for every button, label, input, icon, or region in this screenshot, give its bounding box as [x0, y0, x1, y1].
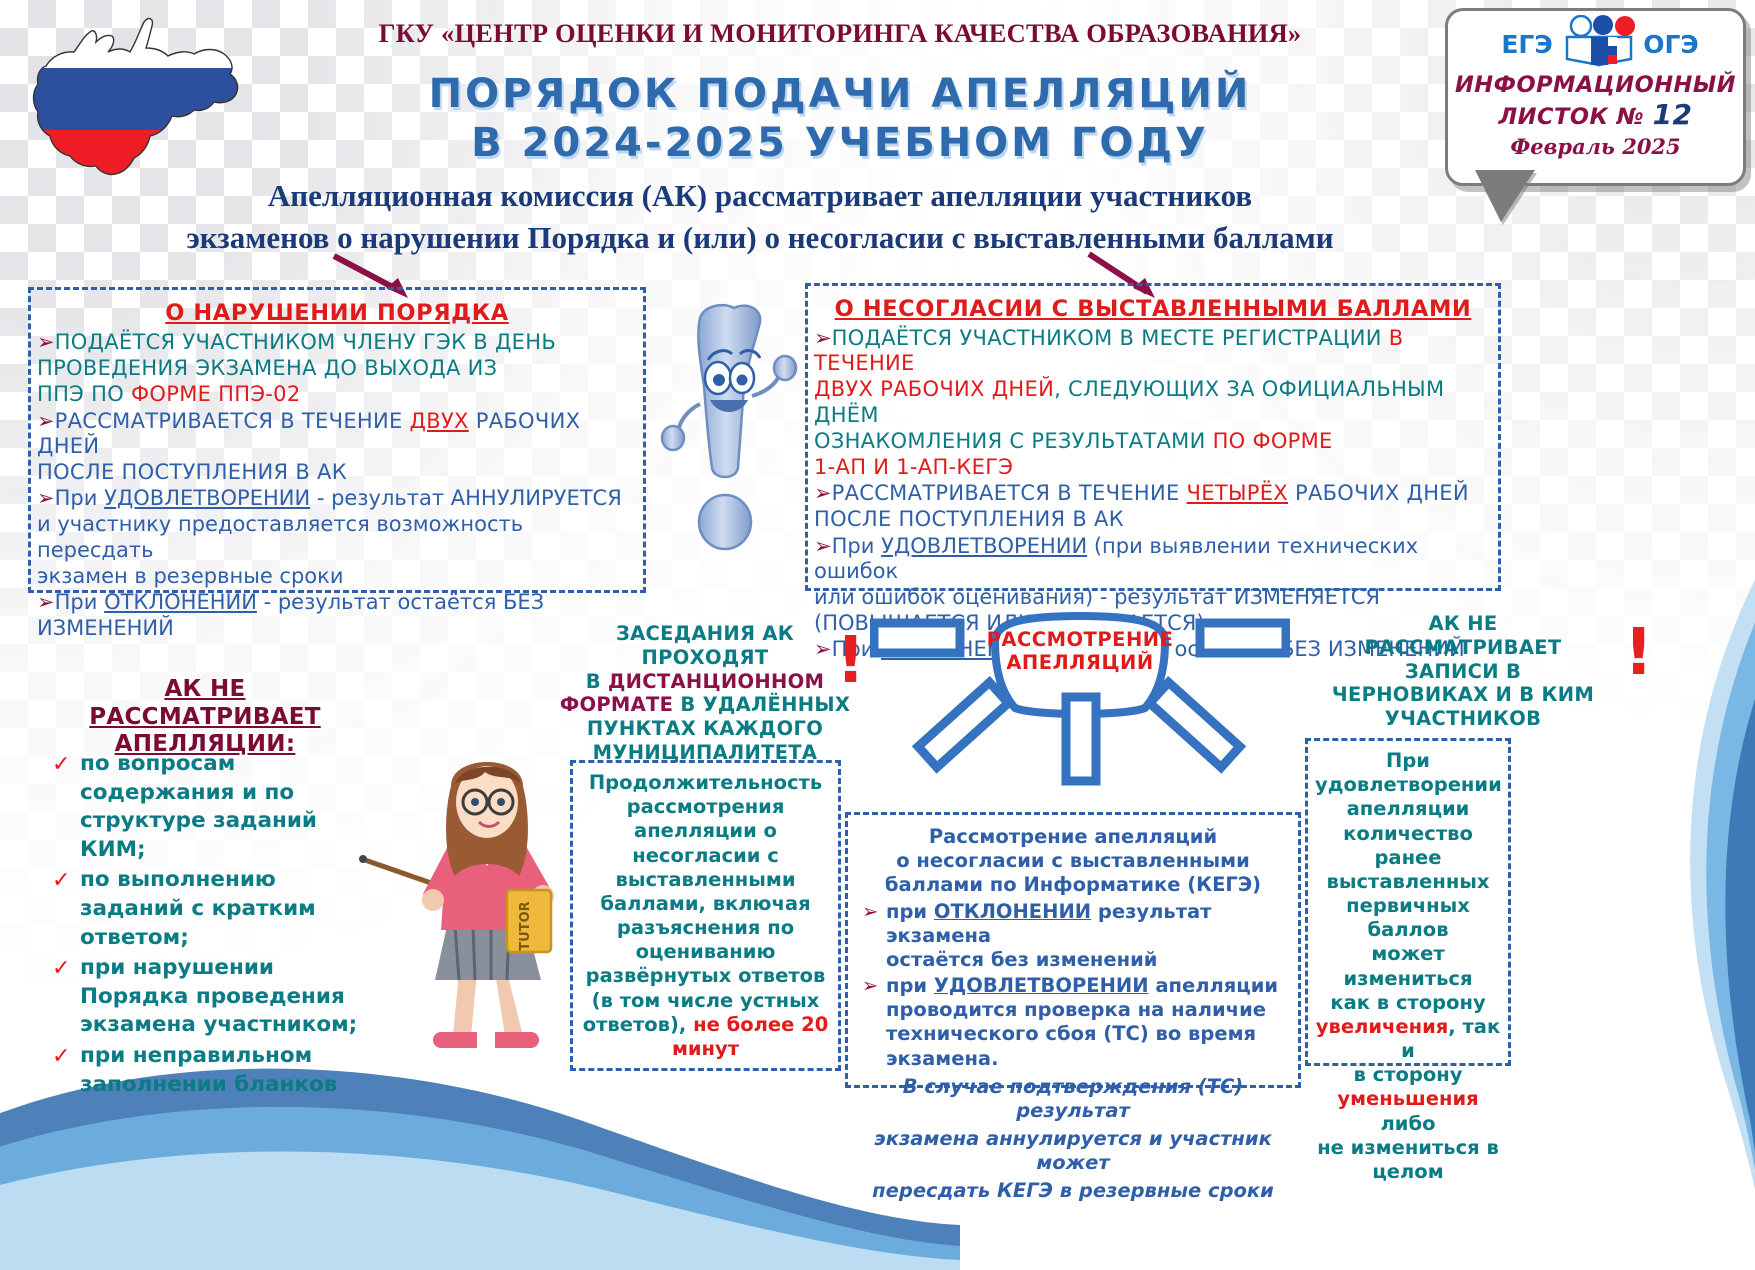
- primary-l7: может измениться: [1315, 942, 1501, 990]
- primary-l12: не измениться в: [1315, 1136, 1501, 1160]
- violation-panel: О НАРУШЕНИИ ПОРЯДКА ➢ПОДАЁТСЯ УЧАСТНИКОМ…: [28, 287, 646, 593]
- page-title: ПОРЯДОК ПОДАЧИ АПЕЛЛЯЦИЙ В 2024-2025 УЧЕ…: [330, 70, 1350, 168]
- disagree-l1c: ОЗНАКОМЛЕНИЯ С РЕЗУЛЬТАТАМИ: [814, 429, 1213, 453]
- bubble-issue-number: 12: [1653, 98, 1693, 131]
- bubble-sheet-prefix: ЛИСТОК №: [1498, 104, 1652, 130]
- disagree-l1b-red: ДВУХ РАБОЧИХ ДНЕЙ: [814, 377, 1054, 401]
- checklist: ✓по вопросам содержания и по структуре з…: [50, 750, 380, 1101]
- list-item: ✓по вопросам содержания и по структуре з…: [50, 750, 380, 864]
- kege-item-2: ➢ при УДОВЛЕТВОРЕНИИ апелляции проводитс…: [860, 974, 1286, 1071]
- checklist-heading-line-1: АК НЕ РАССМАТРИВАЕТ: [50, 676, 360, 731]
- note-left-line-1: ЗАСЕДАНИЯ АК ПРОХОДЯТ: [555, 622, 855, 670]
- disagree-l2a-end: РАБОЧИХ ДНЕЙ: [1288, 481, 1469, 505]
- note-right-line-5: УЧАСТНИКОВ: [1318, 707, 1608, 731]
- violation-l2b: ПОСЛЕ ПОСТУПЛЕНИЯ В АК: [37, 460, 347, 484]
- check-icon: ✓: [52, 954, 70, 983]
- checklist-item-text: по выполнению заданий с кратким ответом;: [80, 867, 316, 949]
- disagree-panel-heading: О НЕСОГЛАСИИ С ВЫСТАВЛЕННЫМИ БАЛЛАМИ: [808, 296, 1498, 322]
- kege-item-1: ➢ при ОТКЛОНЕНИИ результат экзамена оста…: [860, 900, 1286, 973]
- disagree-l2a: РАССМАТРИВАЕТСЯ В ТЕЧЕНИЕ: [832, 481, 1187, 505]
- violation-panel-body: ➢ПОДАЁТСЯ УЧАСТНИКОМ ЧЛЕНУ ГЭК В ДЕНЬ ПР…: [31, 330, 643, 641]
- exclamation-mark-right: !: [1624, 628, 1653, 679]
- bullet-arrow-icon: ➢: [862, 900, 878, 924]
- duration-text: Продолжительность рассмотрения апелляции…: [573, 763, 838, 1061]
- violation-l1c: ППЭ ПО: [37, 382, 131, 406]
- primary-l2: удовлетворении: [1315, 773, 1501, 797]
- intro-text: Апелляционная комиссия (АК) рассматривае…: [60, 175, 1460, 259]
- note-left-2a: В: [586, 670, 608, 693]
- kege-head-3: баллами по Информатике (КЕГЭ): [860, 873, 1286, 897]
- kege-italic-3: пересдать КЕГЭ в резервные сроки: [860, 1179, 1286, 1203]
- primary-l6: первичных баллов: [1315, 894, 1501, 942]
- kege-head-2: о несогласии с выставленными: [860, 849, 1286, 873]
- note-right-line-2: РАССМАТРИВАЕТ: [1318, 636, 1608, 660]
- check-icon: ✓: [52, 866, 70, 895]
- bullet-arrow-icon: ➢: [814, 326, 832, 350]
- crimea-map-icon: [8, 4, 278, 194]
- primary-l4: количество ранее: [1315, 822, 1501, 870]
- list-item: ✓при неправильном заполнении бланков: [50, 1042, 380, 1099]
- exclamation-mark-left: !: [836, 636, 865, 687]
- drafts-not-reviewed-note: АК НЕ РАССМАТРИВАЕТ ЗАПИСИ В ЧЕРНОВИКАХ …: [1318, 612, 1608, 731]
- bubble-date: Февраль 2025: [1448, 134, 1743, 159]
- disagree-l1c-red: ПО ФОРМЕ: [1213, 429, 1333, 453]
- primary-l5: выставленных: [1315, 870, 1501, 894]
- check-icon: ✓: [52, 750, 70, 779]
- checklist-item-text: при неправильном заполнении бланков: [80, 1043, 337, 1097]
- note-left-3a: ФОРМАТЕ: [560, 693, 673, 716]
- bubble-line-2: ЛИСТОК № 12: [1448, 98, 1743, 131]
- checklist-items: ✓по вопросам содержания и по структуре з…: [50, 750, 380, 1099]
- kege-item2-pre: при: [886, 974, 934, 997]
- info-bubble: ЕГЭ ОГЭ ИНФОРМАЦИОННЫЙ ЛИСТОК № 12 Февра…: [1445, 8, 1746, 186]
- kege-item2-cont2: технического сбоя (ТС) во время: [886, 1022, 1286, 1046]
- violation-panel-heading: О НАРУШЕНИИ ПОРЯДКА: [31, 300, 643, 326]
- list-item: ✓по выполнению заданий с кратким ответом…: [50, 866, 380, 952]
- primary-l11-red: уменьшения: [1337, 1087, 1478, 1110]
- bullet-arrow-icon: ➢: [814, 534, 832, 558]
- violation-l4a-u: ОТКЛОНЕНИИ: [104, 590, 257, 614]
- violation-l4b: ИЗМЕНЕНИЙ: [37, 616, 174, 640]
- kege-item2-post: апелляции: [1149, 974, 1279, 997]
- violation-l2a-red: ДВУХ: [410, 409, 469, 433]
- kege-item2-cont3: экзамена.: [886, 1047, 1286, 1071]
- bullet-arrow-icon: ➢: [862, 974, 878, 998]
- disagree-l3a-u: УДОВЛЕТВОРЕНИИ: [881, 534, 1087, 558]
- list-item: ✓при нарушении Порядка проведения экзаме…: [50, 954, 380, 1040]
- bubble-line-1: ИНФОРМАЦИОННЫЙ: [1448, 72, 1743, 98]
- primary-l8: как в сторону: [1315, 991, 1501, 1015]
- primary-l1: При: [1315, 749, 1501, 773]
- check-icon: ✓: [52, 1042, 70, 1071]
- intro-line-1: Апелляционная комиссия (АК) рассматривае…: [60, 175, 1460, 217]
- violation-l3c: экзамен в резервные сроки: [37, 564, 343, 588]
- violation-l3a-u: УДОВЛЕТВОРЕНИИ: [104, 486, 310, 510]
- violation-l1a: ПОДАЁТСЯ УЧАСТНИКОМ ЧЛЕНУ ГЭК В ДЕНЬ: [55, 330, 556, 354]
- exclamation-mascot-icon: [648, 300, 808, 585]
- bullet-arrow-icon: ➢: [37, 590, 55, 614]
- bullet-arrow-icon: ➢: [814, 481, 832, 505]
- kege-box: Рассмотрение апелляций о несогласии с вы…: [845, 812, 1301, 1088]
- primary-l13: целом: [1315, 1160, 1501, 1184]
- kege-text: Рассмотрение апелляций о несогласии с вы…: [848, 815, 1298, 1204]
- ege-oge-logo-icon: ЕГЭ ОГЭ: [1471, 15, 1721, 67]
- primary-l11: уменьшения либо: [1315, 1087, 1501, 1135]
- violation-l3b: и участнику предоставляется возможность …: [37, 512, 523, 561]
- violation-l3a: При: [55, 486, 104, 510]
- note-left-2b: ДИСТАНЦИОННОМ: [608, 670, 824, 693]
- flow-arrows: [870, 605, 1290, 810]
- svg-text:TUTOR: TUTOR: [518, 901, 533, 950]
- intro-line-2: экзаменов о нарушении Порядка и (или) о …: [60, 217, 1460, 259]
- primary-l11-rest: либо: [1381, 1112, 1436, 1135]
- kege-item1-cont: остаётся без изменений: [886, 948, 1286, 972]
- kege-italic-1: В случае подтверждения (ТС) результат: [860, 1075, 1286, 1123]
- note-right-line-4: ЧЕРНОВИКАХ И В КИМ: [1318, 683, 1608, 707]
- primary-l9-red: увеличения: [1316, 1015, 1449, 1038]
- svg-text:ОГЭ: ОГЭ: [1643, 30, 1699, 59]
- organization-title: ГКУ «ЦЕНТР ОЦЕНКИ И МОНИТОРИНГА КАЧЕСТВА…: [330, 18, 1350, 49]
- violation-l3a-end: - результат АННУЛИРУЕТСЯ: [310, 486, 622, 510]
- kege-item2-cont1: проводится проверка на наличие: [886, 998, 1286, 1022]
- note-left-line-4: ПУНКТАХ КАЖДОГО: [555, 717, 855, 741]
- duration-box: Продолжительность рассмотрения апелляции…: [570, 760, 841, 1071]
- primary-l3: апелляции: [1315, 797, 1501, 821]
- disagree-l1a: ПОДАЁТСЯ УЧАСТНИКОМ В МЕСТЕ РЕГИСТРАЦИИ: [832, 326, 1389, 350]
- bullet-arrow-icon: ➢: [37, 486, 55, 510]
- violation-l2a: РАССМАТРИВАЕТСЯ В ТЕЧЕНИЕ: [55, 409, 410, 433]
- primary-score-box: При удовлетворении апелляции количество …: [1305, 738, 1511, 1066]
- kege-item2-u: УДОВЛЕТВОРЕНИИ: [934, 974, 1149, 997]
- note-left-line-2: В ДИСТАНЦИОННОМ: [555, 670, 855, 694]
- disagree-l2a-red: ЧЕТЫРЁХ: [1187, 481, 1288, 505]
- disagree-panel: О НЕСОГЛАСИИ С ВЫСТАВЛЕННЫМИ БАЛЛАМИ ➢ПО…: [805, 283, 1501, 591]
- checklist-heading: АК НЕ РАССМАТРИВАЕТ АПЕЛЛЯЦИИ:: [50, 676, 360, 759]
- primary-score-text: При удовлетворении апелляции количество …: [1308, 741, 1508, 1184]
- violation-l4a-end: - результат остаётся БЕЗ: [257, 590, 544, 614]
- svg-text:ЕГЭ: ЕГЭ: [1501, 30, 1552, 59]
- duration-text-start: Продолжительность рассмотрения апелляции…: [583, 771, 826, 1036]
- page-title-line1: ПОРЯДОК ПОДАЧИ АПЕЛЛЯЦИЙ: [330, 70, 1350, 119]
- disagree-l1d-red: 1-АП И 1-АП-КЕГЭ: [814, 455, 1013, 479]
- kege-head-1: Рассмотрение апелляций: [860, 825, 1286, 849]
- page-title-line2: В 2024-2025 УЧЕБНОМ ГОДУ: [330, 119, 1350, 168]
- duration-text-red: не более 20 минут: [672, 1013, 828, 1060]
- violation-l1b: ПРОВЕДЕНИЯ ЭКЗАМЕНА ДО ВЫХОДА ИЗ: [37, 356, 497, 380]
- primary-l9: увеличения, так и: [1315, 1015, 1501, 1063]
- bullet-arrow-icon: ➢: [37, 409, 55, 433]
- primary-l10: в сторону: [1315, 1063, 1501, 1087]
- checklist-item-text: по вопросам содержания и по структуре за…: [80, 751, 317, 862]
- note-right-line-1: АК НЕ: [1318, 612, 1608, 636]
- bubble-tail: [1475, 170, 1535, 222]
- bullet-arrow-icon: ➢: [37, 330, 55, 354]
- note-left-line-3: ФОРМАТЕ В УДАЛЁННЫХ: [555, 693, 855, 717]
- disagree-l2b: ПОСЛЕ ПОСТУПЛЕНИЯ В АК: [814, 507, 1124, 531]
- kege-item1-pre: при: [886, 900, 934, 923]
- disagree-l3a: При: [832, 534, 881, 558]
- kege-item1-u: ОТКЛОНЕНИИ: [934, 900, 1091, 923]
- violation-l4a: При: [55, 590, 104, 614]
- note-left-3b: В УДАЛЁННЫХ: [673, 693, 850, 716]
- note-right-line-3: ЗАПИСИ В: [1318, 660, 1608, 684]
- kege-italic-2: экзамена аннулируется и участник может: [860, 1127, 1286, 1175]
- violation-l1c-red: ФОРМЕ ППЭ-02: [131, 382, 300, 406]
- checklist-item-text: при нарушении Порядка проведения экзамен…: [80, 955, 357, 1037]
